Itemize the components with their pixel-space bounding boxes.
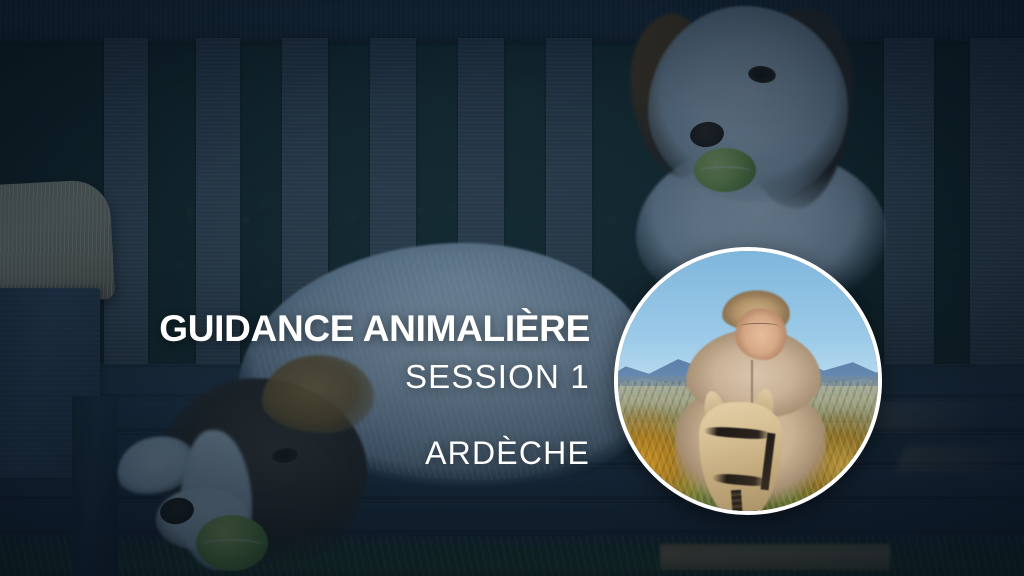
page-title: GUIDANCE ANIMALIÈRE	[0, 310, 590, 349]
banner-image: GUIDANCE ANIMALIÈRE SESSION 1 ARDÈCHE	[0, 0, 1024, 576]
portrait-inner-shadow	[618, 251, 878, 511]
avatar	[614, 247, 882, 515]
location-label: ARDÈCHE	[0, 435, 590, 472]
session-label: SESSION 1	[0, 358, 590, 396]
